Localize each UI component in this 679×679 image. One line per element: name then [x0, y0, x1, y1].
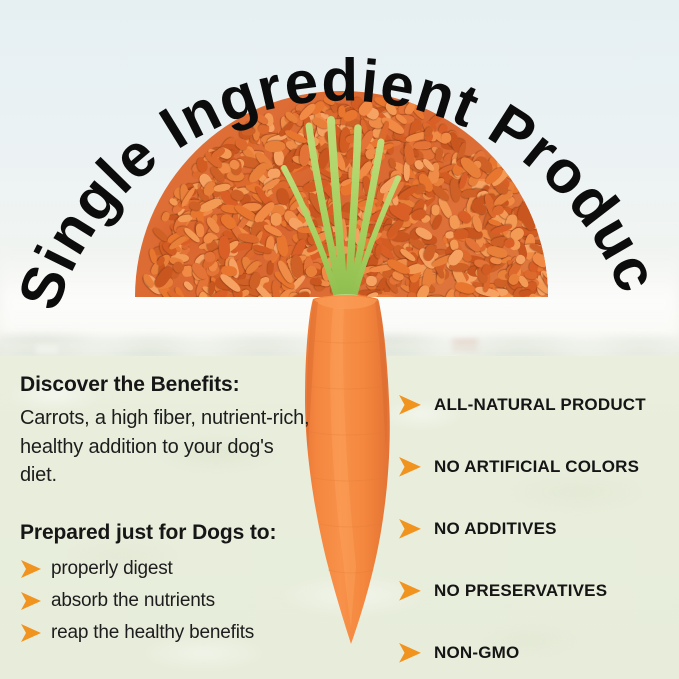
arched-title: Single Ingredient Product — [0, 0, 679, 340]
prepared-item-label: absorb the nutrients — [51, 590, 215, 612]
infographic-canvas: Single Ingredient Product Discover the B… — [0, 0, 679, 679]
claim-item: NON-GMO — [398, 622, 673, 679]
prepared-item-label: properly digest — [51, 558, 173, 580]
prepared-item: properly digest — [20, 553, 320, 585]
benefits-body: Carrots, a high fiber, nutrient-rich, he… — [20, 404, 310, 489]
arrow-right-icon — [20, 624, 42, 642]
prepared-heading: Prepared just for Dogs to: — [20, 521, 320, 545]
prepared-item: absorb the nutrients — [20, 585, 320, 617]
claim-item-label: NO ARTIFICIAL COLORS — [434, 457, 639, 477]
prepared-item: reap the healthy benefits — [20, 617, 320, 649]
arrow-right-icon — [398, 519, 422, 539]
claim-item-label: ALL-NATURAL PRODUCT — [434, 395, 646, 415]
page-title: Single Ingredient Product — [0, 0, 672, 318]
claim-item: NO PRESERVATIVES — [398, 560, 673, 622]
arrow-right-icon — [20, 560, 42, 578]
benefits-block: Discover the Benefits: Carrots, a high f… — [20, 372, 310, 489]
claim-item-label: NON-GMO — [434, 643, 519, 663]
claim-item: ALL-NATURAL PRODUCT — [398, 374, 673, 436]
arrow-right-icon — [398, 395, 422, 415]
prepared-item-label: reap the healthy benefits — [51, 622, 254, 644]
arrow-right-icon — [20, 592, 42, 610]
arrow-right-icon — [398, 457, 422, 477]
arrow-right-icon — [398, 581, 422, 601]
claim-item: NO ARTIFICIAL COLORS — [398, 436, 673, 498]
arrow-right-icon — [398, 643, 422, 663]
claims-list: ALL-NATURAL PRODUCTNO ARTIFICIAL COLORSN… — [398, 374, 673, 679]
claim-item-label: NO PRESERVATIVES — [434, 581, 607, 601]
benefits-heading: Discover the Benefits: — [20, 372, 310, 397]
claim-item-label: NO ADDITIVES — [434, 519, 557, 539]
prepared-list: properly digestabsorb the nutrientsreap … — [20, 553, 320, 649]
claim-item: NO ADDITIVES — [398, 498, 673, 560]
